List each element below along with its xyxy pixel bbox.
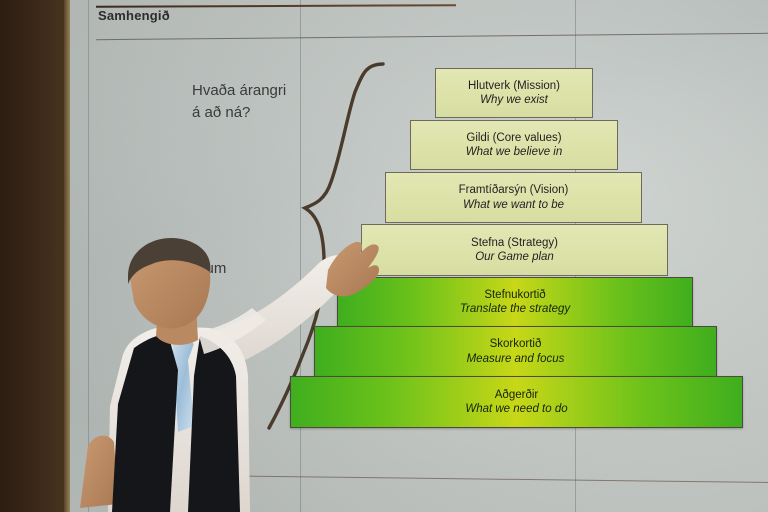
- pyramid-level-5-title: Stefnukortið: [484, 288, 545, 302]
- pyramid-level-2[interactable]: Gildi (Core values) What we believe in: [410, 120, 618, 170]
- pyramid-level-1-subtitle: Why we exist: [480, 93, 548, 107]
- pyramid-level-3-title: Framtíðarsýn (Vision): [459, 183, 569, 197]
- room-wall-left: [0, 0, 68, 512]
- pyramid-level-2-subtitle: What we believe in: [466, 145, 563, 159]
- presenter: [60, 236, 380, 512]
- pyramid-level-6-subtitle: Measure and focus: [467, 352, 565, 366]
- presenter-hand: [326, 242, 379, 297]
- pyramid-level-3[interactable]: Framtíðarsýn (Vision) What we want to be: [385, 172, 642, 223]
- pyramid-level-1-title: Hlutverk (Mission): [468, 79, 560, 93]
- slide-rule-top: [96, 33, 768, 40]
- pyramid-level-4[interactable]: Stefna (Strategy) Our Game plan: [361, 224, 668, 276]
- pyramid-level-6-title: Skorkortið: [490, 337, 542, 351]
- pyramid-level-2-title: Gildi (Core values): [466, 131, 561, 145]
- pyramid-level-5-subtitle: Translate the strategy: [460, 302, 570, 316]
- presenter-forearm: [80, 436, 118, 508]
- pyramid-level-7-subtitle: What we need to do: [465, 402, 567, 416]
- pyramid-level-4-title: Stefna (Strategy): [471, 236, 558, 250]
- pyramid-level-1[interactable]: Hlutverk (Mission) Why we exist: [435, 68, 593, 118]
- projected-presentation-photo: Samhengið Hvaða árangri á að ná? Hvernig…: [0, 0, 768, 512]
- pyramid-level-3-subtitle: What we want to be: [463, 198, 564, 212]
- pyramid-level-4-subtitle: Our Game plan: [475, 250, 554, 264]
- slide-title: Samhengið: [98, 8, 170, 23]
- pyramid-level-5[interactable]: Stefnukortið Translate the strategy: [337, 277, 693, 327]
- pyramid-level-7-title: Aðgerðir: [495, 388, 538, 402]
